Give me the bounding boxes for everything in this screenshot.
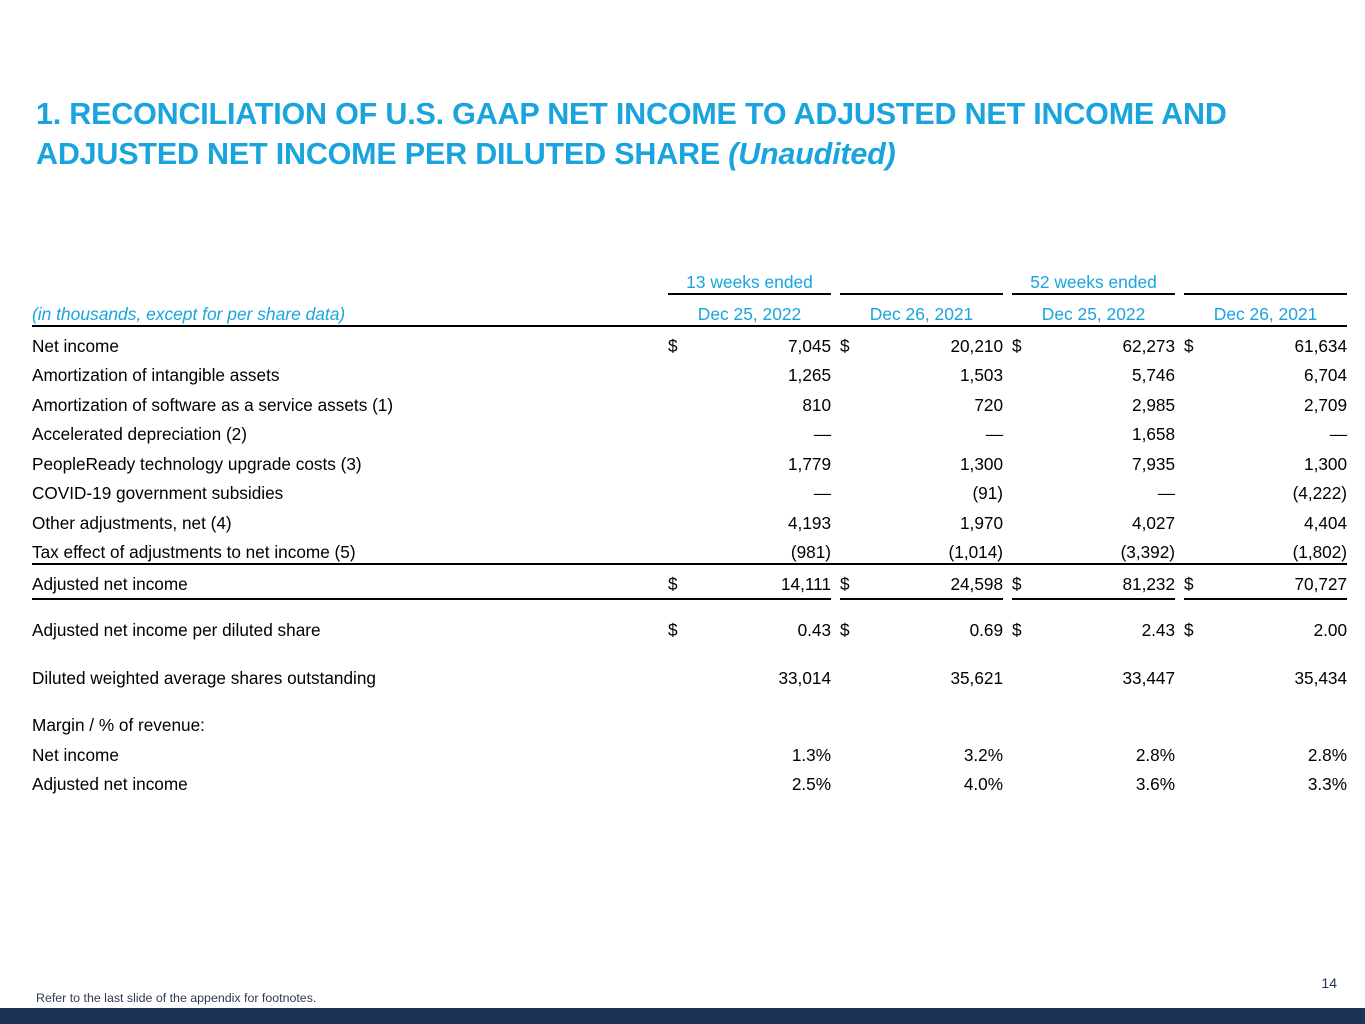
row-currency: $ <box>1012 612 1042 642</box>
row-value: (3,392) <box>1042 534 1175 565</box>
row-value: — <box>1042 475 1175 505</box>
row-value: — <box>698 416 831 446</box>
cell-gap <box>1175 326 1184 357</box>
group-header-13-weeks: 13 weeks ended <box>668 265 831 294</box>
cell-gap <box>831 534 840 565</box>
reconciliation-table: 13 weeks ended 52 weeks ended (in thousa… <box>32 265 1347 795</box>
row-value: 1,779 <box>698 445 831 475</box>
row-currency <box>1184 357 1214 387</box>
row-currency <box>1184 504 1214 534</box>
cell-gap <box>1003 564 1012 595</box>
cell-gap <box>1003 659 1012 689</box>
row-value: 61,634 <box>1214 326 1347 357</box>
row-currency <box>1184 534 1214 565</box>
row-currency: $ <box>668 612 698 642</box>
title-line-1: 1. RECONCILIATION OF U.S. GAAP NET INCOM… <box>36 97 1227 131</box>
margin-section-heading-row: Margin / % of revenue: <box>32 707 1347 737</box>
row-currency <box>840 475 870 505</box>
slide-canvas: 1. RECONCILIATION OF U.S. GAAP NET INCOM… <box>0 0 1365 1024</box>
row-value: 5,746 <box>1042 357 1175 387</box>
row-value: 6,704 <box>1214 357 1347 387</box>
header-gap-2 <box>1003 294 1012 326</box>
row-currency <box>1012 736 1042 766</box>
row-value: 2.43 <box>1042 612 1175 642</box>
total-row-value: 14,111 <box>698 564 831 595</box>
row-label: Other adjustments, net (4) <box>32 504 668 534</box>
row-currency <box>668 736 698 766</box>
row-label: Net income <box>32 736 668 766</box>
row-value: 2.8% <box>1214 736 1347 766</box>
row-currency <box>1184 416 1214 446</box>
table-row: Other adjustments, net (4) 4,193 1,970 4… <box>32 504 1347 534</box>
row-value: — <box>870 416 1003 446</box>
cell-gap <box>1175 564 1184 595</box>
cell-gap <box>1003 534 1012 565</box>
cell-gap <box>1003 504 1012 534</box>
row-currency <box>840 445 870 475</box>
total-row-currency: $ <box>1184 564 1214 595</box>
row-currency <box>668 534 698 565</box>
row-currency <box>668 445 698 475</box>
cell-gap <box>1175 504 1184 534</box>
row-currency <box>1184 386 1214 416</box>
row-currency <box>840 736 870 766</box>
row-currency <box>840 504 870 534</box>
group-gap-1 <box>831 265 840 294</box>
group-header-row: 13 weeks ended 52 weeks ended <box>32 265 1347 294</box>
units-label: (in thousands, except for per share data… <box>32 294 668 326</box>
row-value: 1,970 <box>870 504 1003 534</box>
row-value: 2,985 <box>1042 386 1175 416</box>
row-value: 3.2% <box>870 736 1003 766</box>
cell-gap <box>831 357 840 387</box>
total-row-adjusted-net-income: Adjusted net income $ 14,111 $ 24,598 $ … <box>32 564 1347 595</box>
cell-gap <box>1003 612 1012 642</box>
total-row-value: 70,727 <box>1214 564 1347 595</box>
row-currency <box>1012 504 1042 534</box>
page-number: 14 <box>1321 975 1337 991</box>
row-currency <box>1012 766 1042 796</box>
row-value: (91) <box>870 475 1003 505</box>
row-currency <box>1012 475 1042 505</box>
table-row: Amortization of software as a service as… <box>32 386 1347 416</box>
table-row: Amortization of intangible assets 1,265 … <box>32 357 1347 387</box>
row-label: Adjusted net income <box>32 766 668 796</box>
table-row: PeopleReady technology upgrade costs (3)… <box>32 445 1347 475</box>
financial-table-container: 13 weeks ended 52 weeks ended (in thousa… <box>32 265 1338 795</box>
row-value: 720 <box>870 386 1003 416</box>
total-row-value: 81,232 <box>1042 564 1175 595</box>
page-title: 1. RECONCILIATION OF U.S. GAAP NET INCOM… <box>36 94 1326 175</box>
cell-gap <box>831 416 840 446</box>
cell-gap <box>831 326 840 357</box>
row-currency <box>668 766 698 796</box>
total-row-currency: $ <box>840 564 870 595</box>
cell-gap <box>1175 386 1184 416</box>
total-row-label: Adjusted net income <box>32 564 668 595</box>
group-gap-2 <box>1003 265 1012 294</box>
row-value: 4,404 <box>1214 504 1347 534</box>
row-currency <box>1012 534 1042 565</box>
row-value: 35,434 <box>1214 659 1347 689</box>
row-value: (981) <box>698 534 831 565</box>
header-gap-3 <box>1175 294 1184 326</box>
row-currency <box>840 357 870 387</box>
cell-gap <box>1003 475 1012 505</box>
row-currency <box>668 357 698 387</box>
cell-gap <box>1175 612 1184 642</box>
row-currency <box>668 386 698 416</box>
row-currency <box>840 416 870 446</box>
row-value: 1,503 <box>870 357 1003 387</box>
row-label: Adjusted net income per diluted share <box>32 612 668 642</box>
row-currency <box>668 504 698 534</box>
row-currency <box>668 475 698 505</box>
row-label: Tax effect of adjustments to net income … <box>32 534 668 565</box>
cell-gap <box>1175 766 1184 796</box>
table-row: Accelerated depreciation (2) — — 1,658 — <box>32 416 1347 446</box>
row-value: (4,222) <box>1214 475 1347 505</box>
cell-gap <box>831 445 840 475</box>
row-currency <box>1012 416 1042 446</box>
row-value: 1,300 <box>1214 445 1347 475</box>
cell-gap <box>1175 475 1184 505</box>
column-header-2: Dec 25, 2022 <box>1012 294 1175 326</box>
row-value: 2.00 <box>1214 612 1347 642</box>
row-currency <box>1012 386 1042 416</box>
cell-gap <box>1175 445 1184 475</box>
row-value: 1,300 <box>870 445 1003 475</box>
row-currency <box>1184 736 1214 766</box>
margin-section-heading: Margin / % of revenue: <box>32 707 668 737</box>
cell-gap <box>831 475 840 505</box>
cell-gap <box>1003 416 1012 446</box>
row-value: 2.5% <box>698 766 831 796</box>
spacer-row <box>32 641 1347 659</box>
row-value: 2,709 <box>1214 386 1347 416</box>
row-currency <box>1184 766 1214 796</box>
footnote-reference: Refer to the last slide of the appendix … <box>36 991 316 1005</box>
group-header-13-weeks-prior <box>840 265 1003 294</box>
row-value: 35,621 <box>870 659 1003 689</box>
group-gap-3 <box>1175 265 1184 294</box>
column-header-0: Dec 25, 2022 <box>668 294 831 326</box>
row-value: 62,273 <box>1042 326 1175 357</box>
row-label: Amortization of software as a service as… <box>32 386 668 416</box>
row-currency <box>1184 445 1214 475</box>
cell-gap <box>831 766 840 796</box>
row-value: 0.69 <box>870 612 1003 642</box>
header-gap-1 <box>831 294 840 326</box>
cell-gap <box>1175 416 1184 446</box>
column-header-3: Dec 26, 2021 <box>1184 294 1347 326</box>
margin-row-adjusted-net-income: Adjusted net income 2.5% 4.0% 3.6% 3.3% <box>32 766 1347 796</box>
cell-gap <box>831 504 840 534</box>
row-label: COVID-19 government subsidies <box>32 475 668 505</box>
row-currency <box>1184 659 1214 689</box>
cell-gap <box>1175 659 1184 689</box>
total-row-currency: $ <box>1012 564 1042 595</box>
title-block: 1. RECONCILIATION OF U.S. GAAP NET INCOM… <box>36 94 1326 175</box>
row-currency <box>840 766 870 796</box>
table-body: Net income $ 7,045 $ 20,210 $ 62,273 $ 6… <box>32 326 1347 795</box>
row-value: 0.43 <box>698 612 831 642</box>
column-header-row: (in thousands, except for per share data… <box>32 294 1347 326</box>
group-header-spacer <box>32 265 668 294</box>
row-diluted-weighted-average-shares: Diluted weighted average shares outstand… <box>32 659 1347 689</box>
cell-gap <box>1003 736 1012 766</box>
row-currency <box>1184 475 1214 505</box>
row-value: 7,935 <box>1042 445 1175 475</box>
row-value: 3.3% <box>1214 766 1347 796</box>
cell-gap <box>1003 766 1012 796</box>
row-value: 1,658 <box>1042 416 1175 446</box>
row-currency: $ <box>1184 612 1214 642</box>
row-value: — <box>1214 416 1347 446</box>
total-row-currency: $ <box>668 564 698 595</box>
row-value: 33,447 <box>1042 659 1175 689</box>
row-currency: $ <box>840 612 870 642</box>
row-value: 4,193 <box>698 504 831 534</box>
row-currency <box>1012 445 1042 475</box>
row-value: 20,210 <box>870 326 1003 357</box>
row-value: 2.8% <box>1042 736 1175 766</box>
row-value: (1,014) <box>870 534 1003 565</box>
row-label: PeopleReady technology upgrade costs (3) <box>32 445 668 475</box>
row-currency <box>840 386 870 416</box>
row-currency: $ <box>1184 326 1214 357</box>
row-value: 810 <box>698 386 831 416</box>
row-value: 3.6% <box>1042 766 1175 796</box>
row-adjusted-net-income-per-diluted-share: Adjusted net income per diluted share $ … <box>32 612 1347 642</box>
group-header-52-weeks-prior <box>1184 265 1347 294</box>
group-header-52-weeks: 52 weeks ended <box>1012 265 1175 294</box>
table-row: COVID-19 government subsidies — (91) — (… <box>32 475 1347 505</box>
cell-gap <box>831 659 840 689</box>
title-line-2: ADJUSTED NET INCOME PER DILUTED SHARE <box>36 137 728 171</box>
cell-gap <box>831 612 840 642</box>
row-currency: $ <box>1012 326 1042 357</box>
table-row: Tax effect of adjustments to net income … <box>32 534 1347 565</box>
row-label: Net income <box>32 326 668 357</box>
cell-gap <box>831 736 840 766</box>
row-currency <box>668 659 698 689</box>
title-unaudited: (Unaudited) <box>728 137 895 171</box>
row-currency <box>840 534 870 565</box>
footer-bar <box>0 1008 1365 1024</box>
row-currency: $ <box>668 326 698 357</box>
row-value: 7,045 <box>698 326 831 357</box>
row-value: 33,014 <box>698 659 831 689</box>
row-value: 1,265 <box>698 357 831 387</box>
row-currency <box>840 659 870 689</box>
row-value: — <box>698 475 831 505</box>
row-value: 4,027 <box>1042 504 1175 534</box>
total-row-value: 24,598 <box>870 564 1003 595</box>
row-label: Amortization of intangible assets <box>32 357 668 387</box>
row-currency <box>668 416 698 446</box>
row-label: Diluted weighted average shares outstand… <box>32 659 668 689</box>
spacer-row <box>32 600 1347 612</box>
row-currency <box>1012 357 1042 387</box>
cell-gap <box>1003 445 1012 475</box>
cell-gap <box>1003 386 1012 416</box>
cell-gap <box>1175 534 1184 565</box>
cell-gap <box>1003 357 1012 387</box>
row-label: Accelerated depreciation (2) <box>32 416 668 446</box>
row-currency: $ <box>840 326 870 357</box>
cell-gap <box>1175 357 1184 387</box>
spacer-row <box>32 689 1347 707</box>
row-value: 4.0% <box>870 766 1003 796</box>
row-value: 1.3% <box>698 736 831 766</box>
cell-gap <box>1175 736 1184 766</box>
cell-gap <box>831 386 840 416</box>
table-row: Net income $ 7,045 $ 20,210 $ 62,273 $ 6… <box>32 326 1347 357</box>
cell-gap <box>1003 326 1012 357</box>
row-currency <box>1012 659 1042 689</box>
margin-row-net-income: Net income 1.3% 3.2% 2.8% 2.8% <box>32 736 1347 766</box>
row-value: (1,802) <box>1214 534 1347 565</box>
cell-gap <box>831 564 840 595</box>
column-header-1: Dec 26, 2021 <box>840 294 1003 326</box>
